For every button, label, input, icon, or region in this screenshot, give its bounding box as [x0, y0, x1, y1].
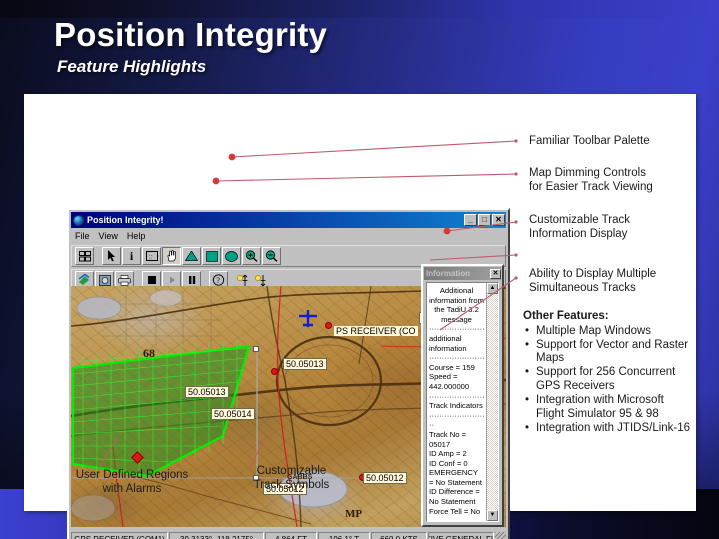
annotation-multiple-tracks: Ability to Display Multiple Simultaneous… — [529, 268, 701, 295]
zoom-in-icon[interactable] — [242, 247, 261, 265]
window-controls: _ □ ✕ — [464, 214, 505, 226]
information-line: ·· — [429, 420, 484, 430]
slide-root: Position Integrity Feature Highlights Po… — [0, 0, 719, 539]
draw-rectangle-icon[interactable] — [202, 247, 221, 265]
information-line: the TadiU 3.2 — [429, 305, 484, 315]
map-place-label-68: 68 — [143, 346, 155, 361]
page-subtitle: Feature Highlights — [57, 57, 206, 77]
list-item: Multiple Map Windows — [536, 325, 693, 339]
status-fix: ACTIVE GENERAL FIX 1. — [428, 532, 494, 539]
menu-item-view[interactable]: View — [99, 231, 118, 241]
information-line: ······················ — [429, 392, 484, 402]
list-item: Integration with JTIDS/Link-16 — [536, 422, 693, 436]
information-line: Course = 159 — [429, 363, 484, 373]
scroll-down-icon[interactable]: ▼ — [487, 510, 498, 521]
information-line: Additional — [429, 286, 484, 296]
track-marker[interactable] — [271, 368, 278, 375]
information-close-button[interactable]: ✕ — [490, 269, 501, 279]
track-marker[interactable] — [325, 322, 332, 329]
annotation-toolbar-palette: Familiar Toolbar Palette — [529, 135, 699, 149]
annotation-user-defined-regions: User Defined Regions with Alarms — [52, 469, 212, 496]
close-button[interactable]: ✕ — [492, 214, 505, 226]
scroll-track[interactable] — [487, 294, 498, 510]
information-line: information from — [429, 296, 484, 306]
status-bar: GPS RECEIVER (COM1) 39.3133° -118.2175° … — [71, 532, 506, 539]
information-line: Speed = — [429, 372, 484, 382]
information-line: additional — [429, 334, 484, 344]
list-item: Support for Vector and Raster Maps — [536, 339, 693, 366]
information-line: EMERGENCY — [429, 468, 484, 478]
status-heading: 196.1° T — [318, 532, 370, 539]
information-line: ······················ — [429, 324, 484, 334]
pointer-select-icon[interactable] — [102, 247, 121, 265]
information-line: Track Indicators — [429, 401, 484, 411]
menu-item-file[interactable]: File — [75, 231, 90, 241]
app-title-bar[interactable]: Position Integrity! _ □ ✕ — [71, 212, 506, 228]
information-window: Information ✕ Additionalinformation from… — [421, 264, 504, 527]
svg-text:?: ? — [216, 276, 220, 285]
other-features-heading: Other Features: — [523, 310, 693, 324]
track-label[interactable]: 50.05013 — [283, 358, 327, 370]
status-gps-receiver: GPS RECEIVER (COM1) — [71, 532, 168, 539]
resize-grip-icon[interactable] — [495, 532, 506, 539]
annotation-track-info-display: Customizable Track Information Display — [529, 214, 699, 241]
minimize-button[interactable]: _ — [464, 214, 477, 226]
information-client-area: Additionalinformation fromthe TadiU 3.2m… — [426, 282, 499, 522]
other-features-block: Other Features: Multiple Map Windows Sup… — [523, 310, 693, 436]
content-panel: Position Integrity! _ □ ✕ File View Help — [24, 94, 696, 511]
draw-polygon-icon[interactable] — [182, 247, 201, 265]
menu-item-help[interactable]: Help — [127, 231, 146, 241]
annotation-map-dimming: Map Dimming Controls for Easier Track Vi… — [529, 167, 701, 194]
info-tool-icon[interactable]: i — [122, 247, 141, 265]
information-line: message — [429, 315, 484, 325]
svg-text:::: :: — [149, 255, 153, 261]
globe-icon — [73, 215, 84, 226]
draw-ellipse-icon[interactable] — [222, 247, 241, 265]
information-line: No Statement — [429, 497, 484, 507]
annotation-track-symbols: Customizable Track Symbols — [224, 465, 359, 492]
track-label[interactable]: 50.05014 — [211, 408, 255, 420]
scroll-up-icon[interactable]: ▲ — [487, 283, 498, 294]
information-line: = No Statement — [429, 478, 484, 488]
list-item: Integration with Microsoft Flight Simula… — [536, 394, 693, 421]
track-label[interactable]: 50.05013 — [185, 386, 229, 398]
information-line: ······················ — [429, 411, 484, 421]
track-label[interactable]: 50.05012 — [363, 472, 407, 484]
information-title-bar[interactable]: Information ✕ — [424, 267, 501, 280]
list-item: Support for 256 Concurrent GPS Receivers — [536, 366, 693, 393]
information-text: Additionalinformation fromthe TadiU 3.2m… — [427, 283, 486, 521]
page-title: Position Integrity — [54, 16, 327, 54]
zoom-box-icon[interactable]: :: — [142, 247, 161, 265]
information-line: 05017 — [429, 440, 484, 450]
maximize-button[interactable]: □ — [478, 214, 491, 226]
status-speed: 660.0 KTS — [371, 532, 427, 539]
information-line: ······················ — [429, 353, 484, 363]
information-line: Track No = — [429, 430, 484, 440]
information-scrollbar[interactable]: ▲ ▼ — [486, 283, 498, 521]
information-line: 442.000000 — [429, 382, 484, 392]
app-title-text: Position Integrity! — [87, 215, 464, 225]
zoom-out-icon[interactable] — [262, 247, 281, 265]
aircraft-symbol-icon[interactable] — [297, 308, 319, 330]
region-handle[interactable] — [253, 346, 259, 352]
information-line: ID Conf = 0 — [429, 459, 484, 469]
gps-receiver-label[interactable]: PS RECEIVER (CO — [334, 326, 418, 336]
map-place-label-mp: MP — [345, 508, 362, 520]
pan-hand-icon[interactable] — [162, 247, 181, 265]
status-coordinates: 39.3133° -118.2175° — [169, 532, 264, 539]
information-line: ID Difference = — [429, 487, 484, 497]
other-features-list: Multiple Map Windows Support for Vector … — [523, 325, 693, 436]
status-altitude: 4,864 FT — [265, 532, 317, 539]
information-line: ID Amp = 2 — [429, 449, 484, 459]
information-line: information — [429, 344, 484, 354]
information-title-text: Information — [426, 269, 490, 278]
information-line: Force Tell = No — [429, 507, 484, 517]
menu-bar: File View Help — [71, 229, 506, 243]
map-windows-icon[interactable] — [75, 247, 94, 265]
